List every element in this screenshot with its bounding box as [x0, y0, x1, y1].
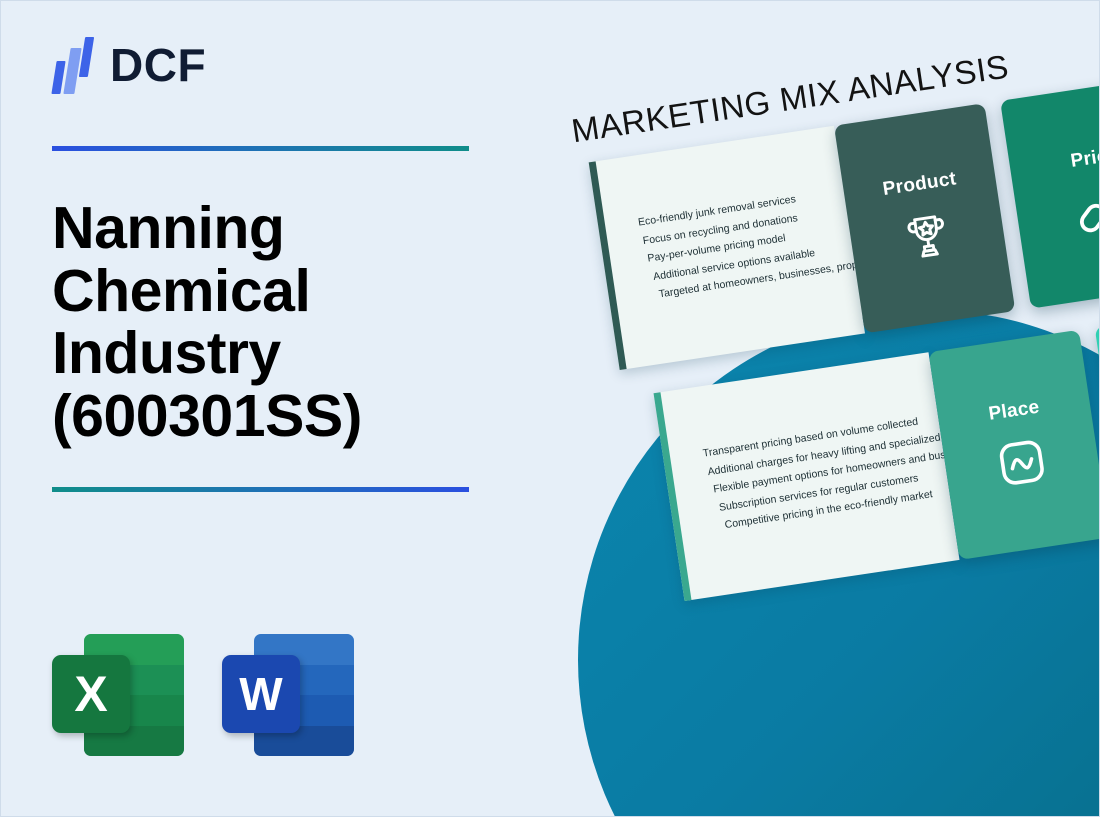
divider-top — [52, 146, 469, 151]
excel-letter: X — [52, 655, 130, 733]
brand-logo: DCF — [52, 34, 482, 96]
divider-bottom — [52, 487, 469, 492]
marketing-mix-graphic: MARKETING MIX ANALYSIS Eco-friendly junk… — [520, 0, 1100, 817]
tile-label: Product — [881, 168, 957, 201]
brand-name: DCF — [110, 42, 206, 88]
activity-wave-icon — [991, 432, 1052, 493]
product-bullets-card: Eco-friendly junk removal services Focus… — [589, 126, 865, 370]
tile-label: Place — [987, 397, 1041, 426]
word-letter: W — [222, 655, 300, 733]
word-file-icon[interactable]: W — [222, 630, 354, 756]
link-chain-icon — [1072, 179, 1100, 240]
product-bullet-list: Eco-friendly junk removal services Focus… — [597, 180, 857, 315]
quadrant-tile-price[interactable]: Price — [1000, 76, 1100, 309]
slide-canvas: DCF Nanning Chemical Industry (600301SS)… — [0, 0, 1100, 817]
title-panel: DCF Nanning Chemical Industry (600301SS)… — [52, 34, 482, 794]
place-bullet-list: Transparent pricing based on volume coll… — [662, 407, 952, 547]
tile-label: Price — [1069, 144, 1100, 173]
file-format-icons: X W — [52, 630, 354, 756]
trophy-icon — [897, 205, 958, 266]
excel-file-icon[interactable]: X — [52, 630, 184, 756]
bar-chart-logo-icon — [52, 36, 96, 94]
page-title: Nanning Chemical Industry (600301SS) — [52, 197, 472, 447]
marketing-mix-stage: MARKETING MIX ANALYSIS Eco-friendly junk… — [520, 0, 1100, 740]
quadrant-tile-place[interactable]: Place — [928, 330, 1100, 560]
place-bullets-card: Transparent pricing based on volume coll… — [654, 352, 960, 601]
quadrant-tile-product[interactable]: Product — [834, 103, 1015, 333]
